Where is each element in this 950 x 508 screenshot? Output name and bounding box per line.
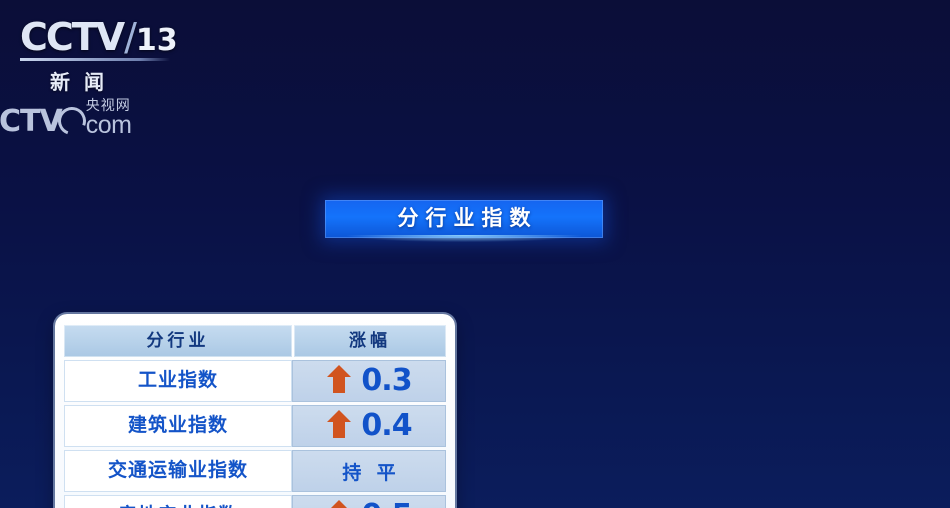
cctvcom-tld: com bbox=[86, 113, 132, 137]
change-value: 0.4 bbox=[361, 411, 411, 441]
channel-subtitle: 新闻 bbox=[50, 66, 220, 95]
table-header-row: 分行业 涨幅 bbox=[64, 325, 446, 357]
table-row: 交通运输业指数持 平 bbox=[64, 450, 446, 492]
industry-name-cell: 工业指数 bbox=[64, 360, 292, 402]
industry-name-cell: 交通运输业指数 bbox=[64, 450, 292, 492]
banner-glow bbox=[347, 235, 581, 242]
table-row: 工业指数0.3 bbox=[64, 360, 446, 402]
change-value: 0.3 bbox=[361, 366, 411, 396]
change-value-cell: 0.5 bbox=[292, 495, 446, 508]
change-value: 0.5 bbox=[361, 501, 411, 508]
table-row: 建筑业指数0.4 bbox=[64, 405, 446, 447]
index-table-panel-left: 分行业 涨幅 工业指数0.3建筑业指数0.4交通运输业指数持 平房地产业指数0.… bbox=[55, 314, 455, 508]
cctv-wordmark: CCTV/13 bbox=[20, 18, 220, 56]
table-body-left: 工业指数0.3建筑业指数0.4交通运输业指数持 平房地产业指数0.5 bbox=[64, 360, 446, 508]
arrow-up-icon bbox=[326, 364, 352, 399]
column-header-industry: 分行业 bbox=[64, 325, 292, 357]
cctv13-channel-logo: CCTV/13 新闻 bbox=[20, 18, 220, 90]
logo-slash: / bbox=[123, 15, 136, 59]
index-table-left: 分行业 涨幅 工业指数0.3建筑业指数0.4交通运输业指数持 平房地产业指数0.… bbox=[64, 322, 446, 508]
change-value-cell: 0.3 bbox=[292, 360, 446, 402]
change-value-inner: 持 平 bbox=[292, 450, 446, 492]
table-row: 房地产业指数0.5 bbox=[64, 495, 446, 508]
column-header-change: 涨幅 bbox=[292, 325, 446, 357]
broadcast-screen: CCTV/13 新闻 CCTV 央视网 com 分行业指数 分行业 涨幅 bbox=[0, 0, 950, 508]
change-value-cell: 持 平 bbox=[292, 450, 446, 492]
arrow-up-icon bbox=[326, 409, 352, 439]
change-value-inner: 0.3 bbox=[292, 360, 446, 402]
arrow-up-icon bbox=[326, 364, 352, 394]
cctvcom-letters: CCTV bbox=[0, 107, 62, 137]
change-value-inner: 0.5 bbox=[292, 495, 446, 508]
cctv-letters: CCTV bbox=[20, 15, 123, 59]
change-value-cell: 0.4 bbox=[292, 405, 446, 447]
industry-name-cell: 建筑业指数 bbox=[64, 405, 292, 447]
arrow-up-icon bbox=[326, 499, 352, 508]
channel-number: 13 bbox=[136, 23, 178, 58]
industry-name-cell: 房地产业指数 bbox=[64, 495, 292, 508]
cctv-com-logo: CCTV 央视网 com bbox=[0, 98, 928, 144]
title-banner: 分行业指数 bbox=[325, 200, 603, 238]
arrow-up-icon bbox=[326, 499, 352, 508]
banner-title: 分行业指数 bbox=[325, 200, 603, 238]
arrow-up-icon bbox=[326, 409, 352, 444]
flat-label: 持 平 bbox=[337, 458, 400, 485]
change-value-inner: 0.4 bbox=[292, 405, 446, 447]
